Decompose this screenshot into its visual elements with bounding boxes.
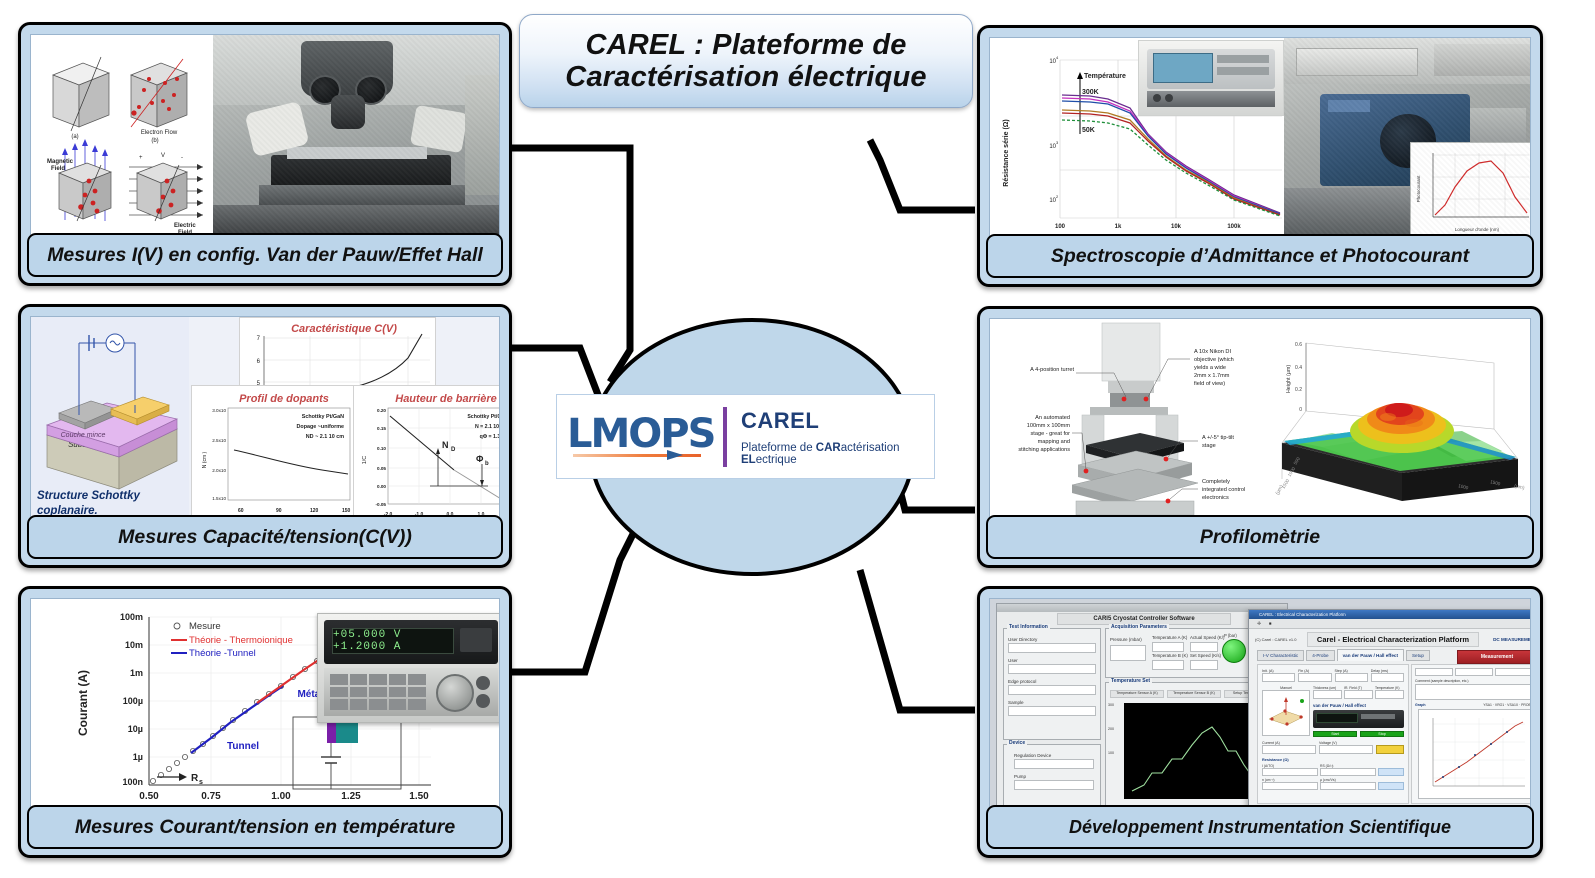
panel-instrumentation-caption-text: Développement Instrumentation Scientifiq… <box>1069 817 1451 838</box>
svg-text:Hauteur de barrière: Hauteur de barrière <box>395 393 496 405</box>
svg-text:100k: 100k <box>1227 224 1241 230</box>
panel-iv-caption-text: Mesures Courant/tension en température <box>75 816 455 839</box>
svg-text:0.75: 0.75 <box>201 791 221 802</box>
profilometer-photo: A 4-position turret A 10x Nikon DI objec… <box>990 319 1280 520</box>
sub-end: ectrique <box>756 454 797 466</box>
panel-profilometry-caption-text: Profilomètrie <box>1200 526 1320 549</box>
optical-bench-photo: Longueur d'onde (nm) Photocourant <box>1284 38 1531 239</box>
surface-topography-chart: 0.6 0.4 0.2 0 Height (µm) <box>1262 319 1531 520</box>
svg-text:0: 0 <box>1299 407 1302 413</box>
panel-iv-caption: Mesures Courant/tension en température <box>27 805 503 849</box>
measurement-button[interactable]: Measurement <box>1457 650 1531 664</box>
svg-text:stage: stage <box>1202 443 1216 449</box>
lcr-meter-photo <box>1138 40 1284 116</box>
svg-text:stitching applications: stitching applications <box>1018 447 1070 453</box>
svg-text:ND ~ 2.1 10 cm: ND ~ 2.1 10 cm <box>306 434 344 440</box>
svg-text:Completely: Completely <box>1202 479 1230 485</box>
svg-text:300K: 300K <box>1082 89 1099 96</box>
source-meter-photo: +05.000 V +1.2000 A <box>317 613 500 723</box>
svg-text:D: D <box>451 447 456 453</box>
sub-pre: Plateforme de <box>741 442 816 454</box>
panel-cv-media: Substrat Couche mince Stru <box>30 316 500 523</box>
svg-text:0.2: 0.2 <box>1295 387 1302 393</box>
svg-text:1/C: 1/C <box>362 456 368 464</box>
svg-text:Théorie -Tunnel: Théorie -Tunnel <box>189 648 256 659</box>
svg-text:1.5x10: 1.5x10 <box>212 496 226 501</box>
svg-text:-0.05: -0.05 <box>376 502 387 507</box>
svg-text:100: 100 <box>1055 224 1066 230</box>
page-title: CAREL : Plateforme de Caractérisation él… <box>519 14 973 108</box>
svg-text:s: s <box>199 779 203 786</box>
panel-instrumentation[interactable]: CARI5 Cryostat Controller Software Test … <box>977 586 1543 858</box>
panel-profilometry-media: A 4-position turret A 10x Nikon DI objec… <box>989 318 1531 523</box>
carel-name: CAREL <box>741 408 924 434</box>
barrier-height-chart: Hauteur de barrière 0.20 0.15 0.10 0.05 … <box>353 385 500 522</box>
svg-text:10k: 10k <box>1171 224 1182 230</box>
svg-text:(b): (b) <box>151 138 158 144</box>
carel-logo: LMOPS CAREL Plateforme de CARactérisatio… <box>556 394 935 479</box>
svg-text:100mm x 100mm: 100mm x 100mm <box>1027 423 1071 429</box>
svg-text:10m: 10m <box>125 640 143 650</box>
panel-hall-media: (a) Electron Flow (b) <box>30 34 500 241</box>
svg-text:1.00: 1.00 <box>271 791 291 802</box>
svg-text:N (cm ): N (cm ) <box>202 451 208 468</box>
svg-text:100m: 100m <box>120 612 143 622</box>
panel-hall-caption-text: Mesures I(V) en config. Van der Pauw/Eff… <box>47 244 483 267</box>
svg-text:0.00: 0.00 <box>377 484 386 489</box>
svg-text:mapping and: mapping and <box>1038 439 1070 445</box>
svg-text:10µ: 10µ <box>128 724 143 734</box>
panel-hall-caption: Mesures I(V) en config. Van der Pauw/Eff… <box>27 233 503 277</box>
panel-admittance-caption: Spectroscopie d’Admittance et Photocoura… <box>986 234 1534 278</box>
svg-text:(a): (a) <box>71 134 78 140</box>
svg-text:100n: 100n <box>122 777 143 787</box>
svg-text:Φ: Φ <box>476 454 484 464</box>
svg-text:Schottky Pt/GaN: Schottky Pt/GaN <box>467 414 500 420</box>
svg-text:-: - <box>181 155 183 161</box>
svg-text:0.15: 0.15 <box>377 426 386 431</box>
svg-text:Schottky Pt/GaN: Schottky Pt/GaN <box>302 414 344 420</box>
svg-text:0.4: 0.4 <box>1295 365 1302 371</box>
cryostat-controller-window[interactable]: CARI5 Cryostat Controller Software Test … <box>996 603 1288 809</box>
carel-subtitle: Plateforme de CARactérisation ELectrique <box>741 442 924 466</box>
panel-admittance-media: 104 103 102 100 1k 10k 100k Résistance s… <box>989 37 1531 242</box>
panel-cv-caption: Mesures Capacité/tension(C(V)) <box>27 515 503 559</box>
svg-text:0.20: 0.20 <box>377 408 386 413</box>
svg-text:1µ: 1µ <box>133 752 143 762</box>
svg-text:Dopage ~uniforme: Dopage ~uniforme <box>297 424 344 430</box>
svg-text:Structure Schottky: Structure Schottky <box>37 490 140 502</box>
svg-text:Courant (A): Courant (A) <box>76 670 90 736</box>
svg-text:integrated control: integrated control <box>1202 487 1245 493</box>
svg-text:3.0x10: 3.0x10 <box>212 408 226 413</box>
svg-text:Profil de dopants: Profil de dopants <box>239 393 329 405</box>
panel-iv[interactable]: 100m 10m 1m 100µ 10µ 1µ 100n 0.50 0.75 1… <box>18 586 512 858</box>
svg-text:Mesure: Mesure <box>189 621 221 632</box>
svg-text:Couche mince: Couche mince <box>61 432 106 439</box>
svg-text:100µ: 100µ <box>123 696 143 706</box>
panel-admittance-caption-text: Spectroscopie d’Admittance et Photocoura… <box>1051 245 1469 268</box>
svg-text:0.10: 0.10 <box>377 446 386 451</box>
svg-text:yields a wide: yields a wide <box>1194 365 1226 371</box>
diagram-canvas: CAREL : Plateforme de Caractérisation él… <box>0 0 1595 878</box>
panel-profilometry[interactable]: A 4-position turret A 10x Nikon DI objec… <box>977 306 1543 568</box>
svg-text:+: + <box>139 155 143 161</box>
logo-divider <box>723 407 727 467</box>
carel-platform-window[interactable]: CAREL : Electrical Characterization Plat… <box>1248 609 1531 809</box>
svg-text:A 10x Nikon DI: A 10x Nikon DI <box>1194 349 1231 355</box>
panel-instrumentation-caption: Développement Instrumentation Scientifiq… <box>986 805 1534 849</box>
sub-el: EL <box>741 454 756 466</box>
svg-text:Field: Field <box>51 166 65 172</box>
svg-text:0.05: 0.05 <box>377 466 386 471</box>
svg-text:1m: 1m <box>130 668 143 678</box>
page-title-text: CAREL : Plateforme de Caractérisation él… <box>520 29 972 94</box>
svg-text:stage - great for: stage - great for <box>1031 431 1071 437</box>
svg-text:b: b <box>485 461 489 467</box>
svg-text:2.5x10: 2.5x10 <box>212 438 226 443</box>
svg-text:N = 2.1 10 cm: N = 2.1 10 cm <box>475 424 500 430</box>
svg-text:50K: 50K <box>1082 127 1095 134</box>
sub-car: CAR <box>816 442 841 454</box>
lmops-wordmark: LMOPS <box>567 414 717 454</box>
svg-text:N: N <box>442 440 449 450</box>
panel-iv-media: 100m 10m 1m 100µ 10µ 1µ 100n 0.50 0.75 1… <box>30 598 500 812</box>
panel-hall[interactable]: (a) Electron Flow (b) <box>18 22 512 286</box>
probe-station-photo <box>213 35 500 238</box>
svg-text:0.6: 0.6 <box>1295 342 1302 348</box>
svg-text:1.50: 1.50 <box>409 791 429 802</box>
svg-text:A 4-position turret: A 4-position turret <box>1030 367 1074 373</box>
svg-text:Magnetic: Magnetic <box>47 159 74 165</box>
svg-text:R: R <box>191 773 199 784</box>
schottky-structure-figure: Substrat Couche mince Stru <box>31 317 189 520</box>
lmops-underline <box>567 450 717 460</box>
svg-text:Electric: Electric <box>174 223 196 229</box>
svg-text:Height (µm): Height (µm) <box>1286 365 1292 393</box>
svg-text:Théorie - Thermoionique: Théorie - Thermoionique <box>189 635 293 646</box>
sub-mid: actérisation <box>841 442 900 454</box>
svg-text:electronics: electronics <box>1202 495 1229 501</box>
svg-text:A +/-5° tip-tilt: A +/-5° tip-tilt <box>1202 435 1234 441</box>
svg-text:1.25: 1.25 <box>341 791 361 802</box>
svg-text:qΦ = 1.3 eV: qΦ = 1.3 eV <box>480 434 500 440</box>
lmops-logo: LMOPS <box>567 414 717 460</box>
panel-instrumentation-media: CARI5 Cryostat Controller Software Test … <box>989 598 1531 812</box>
svg-text:field of view): field of view) <box>1194 381 1225 387</box>
svg-text:Electron Flow: Electron Flow <box>141 130 178 136</box>
svg-text:Tunnel: Tunnel <box>227 741 259 752</box>
panel-admittance[interactable]: 104 103 102 100 1k 10k 100k Résistance s… <box>977 25 1543 287</box>
svg-text:90: 90 <box>276 508 282 514</box>
panel-profilometry-caption: Profilomètrie <box>986 515 1534 559</box>
svg-text:0.50: 0.50 <box>139 791 159 802</box>
svg-text:V: V <box>161 153 165 159</box>
doping-profile-chart: Profil de dopants 3.0x10 2.5x10 2.0x10 1… <box>191 385 358 522</box>
svg-text:1k: 1k <box>1115 224 1122 230</box>
svg-text:2.0x10: 2.0x10 <box>212 468 226 473</box>
panel-cv[interactable]: Substrat Couche mince Stru <box>18 304 512 568</box>
svg-text:2mm x 1.7mm: 2mm x 1.7mm <box>1194 373 1230 379</box>
svg-text:An automated: An automated <box>1035 415 1070 421</box>
svg-text:120: 120 <box>310 508 319 514</box>
hall-effect-diagram: (a) Electron Flow (b) <box>31 35 211 238</box>
svg-text:Température: Température <box>1084 73 1126 80</box>
svg-text:Résistance série (Ω): Résistance série (Ω) <box>1003 119 1010 186</box>
svg-text:150: 150 <box>342 508 351 514</box>
svg-text:60: 60 <box>238 508 244 514</box>
panel-cv-caption-text: Mesures Capacité/tension(C(V)) <box>118 526 412 549</box>
svg-text:Caractéristique C(V): Caractéristique C(V) <box>291 323 397 335</box>
svg-text:objective (which: objective (which <box>1194 357 1234 363</box>
